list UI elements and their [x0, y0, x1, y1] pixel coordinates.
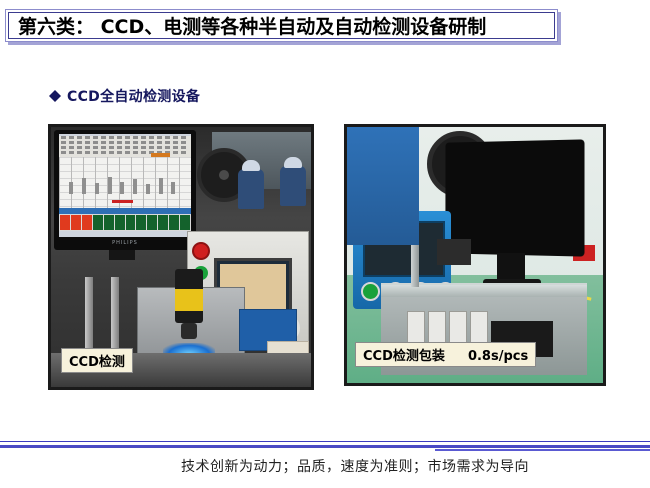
ccd-packing-photo: CCD检测包装 0.8s/pcs: [344, 124, 606, 386]
measurement-grid: [59, 157, 191, 215]
measurement-bars: [67, 174, 183, 194]
caption-rate: 0.8s/pcs: [468, 349, 528, 364]
monitor-stand: [109, 250, 135, 260]
page-title: 第六类： CCD、电测等各种半自动及自动检测设备研制: [9, 12, 486, 39]
diamond-bullet-icon: [49, 84, 61, 96]
footer-rule-thin: [0, 441, 650, 442]
ccd-camera-label-band: [175, 289, 203, 311]
servo-motor: [437, 239, 471, 265]
status-cell-row: [59, 214, 191, 230]
worker-figure: [280, 166, 306, 206]
footer-rule-accent: [435, 449, 650, 451]
alarm-text: [112, 200, 133, 203]
caption-text: CCD检测: [69, 355, 125, 370]
ccd-inspection-photo: PHILIPS CCD检测: [48, 124, 314, 390]
toolbar-row: [61, 141, 189, 144]
slide-title-inner-border: 第六类： CCD、电测等各种半自动及自动检测设备研制: [8, 12, 555, 39]
toolbar-row: [61, 136, 189, 139]
footer-rule-thick: [0, 445, 650, 448]
footer-slogan: 技术创新为动力；品质，速度为准则；市场需求为导向: [0, 456, 650, 476]
section-heading: CCD全自动检测设备: [49, 86, 200, 106]
photo-caption-right: CCD检测包装 0.8s/pcs: [355, 342, 536, 367]
monitor-brand-logo: PHILIPS: [54, 238, 196, 249]
slide-title-box: 第六类： CCD、电测等各种半自动及自动检测设备研制: [5, 9, 558, 42]
inspection-software-screen: [59, 134, 191, 237]
button-green: [361, 282, 380, 301]
indicator-lamp-red: [194, 244, 208, 258]
section-heading-label: CCD全自动检测设备: [67, 86, 200, 106]
caption-text: CCD检测包装: [363, 349, 445, 364]
worker-figure: [238, 169, 264, 209]
inspection-monitor: PHILIPS: [54, 130, 196, 250]
monitor-stand: [497, 253, 525, 281]
photo-caption-left: CCD检测: [61, 348, 133, 373]
toolbar-row: [61, 146, 189, 149]
blue-partition-panel: [347, 127, 419, 245]
ccd-camera-lens: [181, 323, 197, 339]
